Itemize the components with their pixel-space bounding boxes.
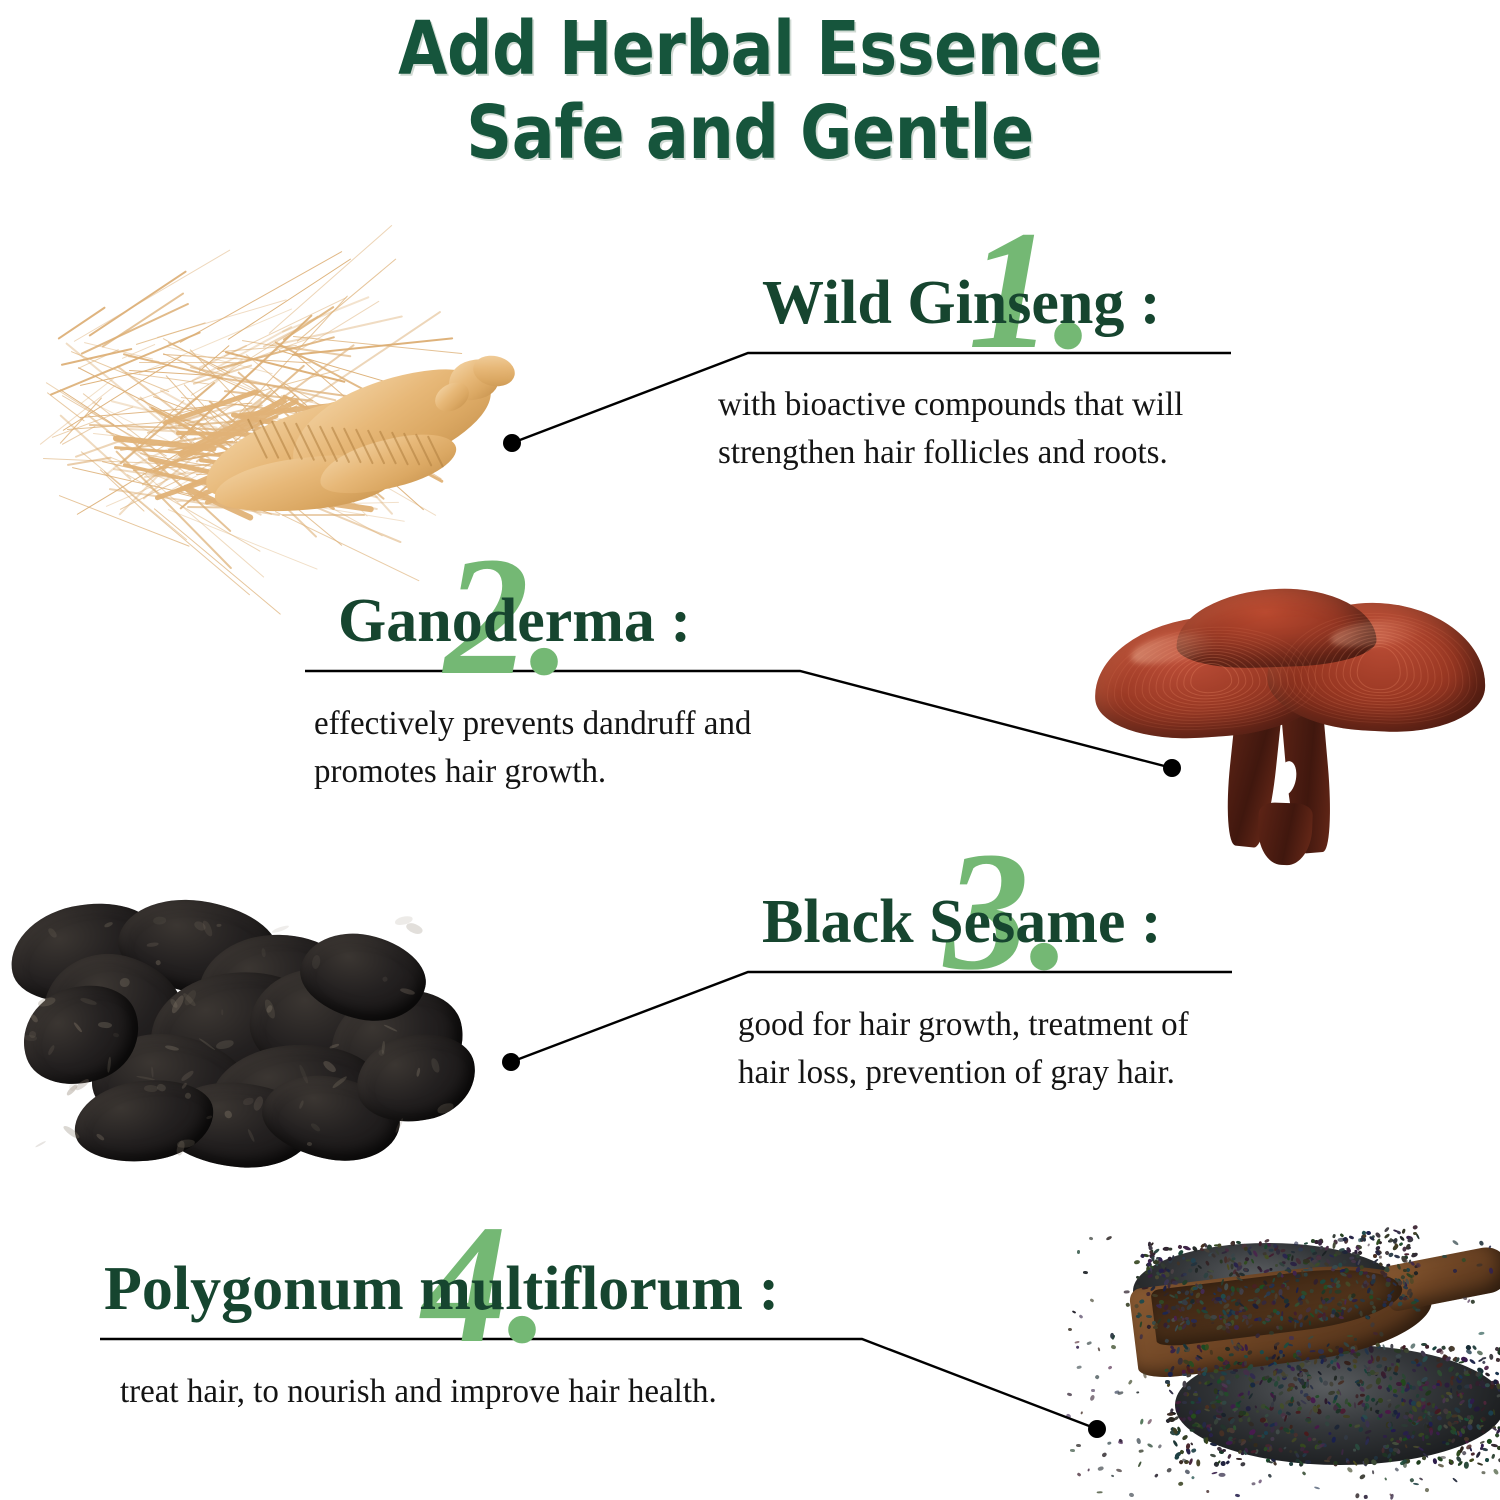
section-wild-ginseng: 1. Wild Ginseng : with bioactive compoun… (762, 272, 1198, 478)
section-body-2: effectively prevents dandruff and promot… (314, 700, 751, 797)
section-heading-4: Polygonum multiflorum : (104, 1258, 779, 1320)
wild-ginseng-image (18, 290, 528, 550)
title-line-1: Add Herbal Essence (105, 14, 1395, 84)
section-polygonum-multiflorum: 4. Polygonum multiflorum : treat hair, t… (104, 1258, 779, 1416)
ganoderma-mushroom-image (1090, 565, 1490, 865)
heading-wrap-2: 2. Ganoderma : (338, 590, 691, 652)
heading-wrap-3: 3. Black Sesame : (762, 891, 1162, 953)
section-body-3: good for hair growth, treatment of hair … (738, 1001, 1189, 1098)
page-title: Add Herbal Essence Safe and Gentle (0, 14, 1500, 169)
title-line-2: Safe and Gentle (105, 98, 1395, 168)
section-black-sesame: 3. Black Sesame : good for hair growth, … (762, 891, 1203, 1098)
section-heading-1: Wild Ginseng : (762, 272, 1161, 334)
black-sesame-seeds-image (1005, 1225, 1500, 1500)
heading-wrap-1: 1. Wild Ginseng : (762, 272, 1161, 334)
infographic-canvas: Add Herbal Essence Safe and Gentle 1. Wi… (0, 0, 1500, 1500)
section-body-1: with bioactive compounds that will stren… (718, 381, 1183, 478)
connector-dot-3 (502, 1053, 520, 1071)
section-heading-2: Ganoderma : (338, 590, 691, 652)
dried-root-slices-image (0, 895, 500, 1175)
section-ganoderma: 2. Ganoderma : effectively prevents dand… (338, 590, 765, 797)
heading-wrap-4: 4. Polygonum multiflorum : (104, 1258, 779, 1320)
section-heading-3: Black Sesame : (762, 891, 1162, 953)
